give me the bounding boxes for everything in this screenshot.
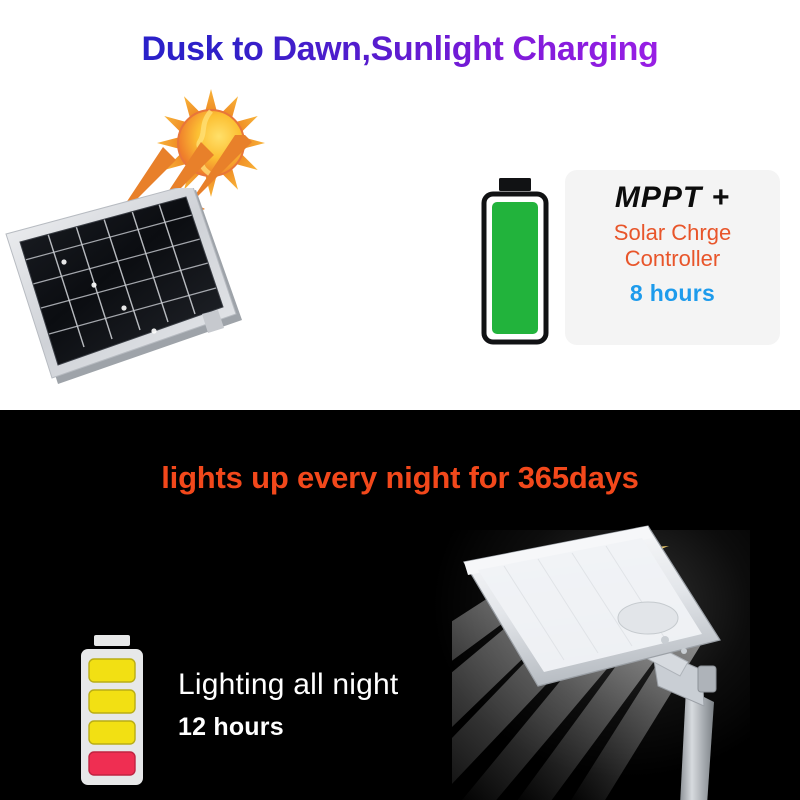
solar-street-light-icon bbox=[452, 520, 800, 800]
mppt-subtitle-line1: Solar Chrge bbox=[614, 220, 731, 247]
charging-hours-label: 8 hours bbox=[630, 280, 715, 307]
mppt-subtitle-line2: Controller bbox=[614, 246, 731, 273]
solar-panel-icon bbox=[0, 188, 246, 398]
battery-full-green-icon bbox=[470, 176, 560, 348]
mppt-title: MPPT + bbox=[615, 182, 730, 214]
page-title: Dusk to Dawn,Sunlight Charging bbox=[0, 30, 800, 69]
night-section: lights up every night for 365days Lighti… bbox=[0, 410, 800, 800]
mppt-feature-card: MPPT + Solar Chrge Controller 8 hours bbox=[565, 170, 780, 345]
infographic-canvas: Dusk to Dawn,Sunlight Charging bbox=[0, 0, 800, 800]
daylight-section: Dusk to Dawn,Sunlight Charging bbox=[0, 0, 800, 410]
battery-low-icon bbox=[68, 635, 158, 787]
mppt-subtitle: Solar Chrge Controller bbox=[614, 220, 731, 274]
night-title: lights up every night for 365days bbox=[0, 460, 800, 496]
